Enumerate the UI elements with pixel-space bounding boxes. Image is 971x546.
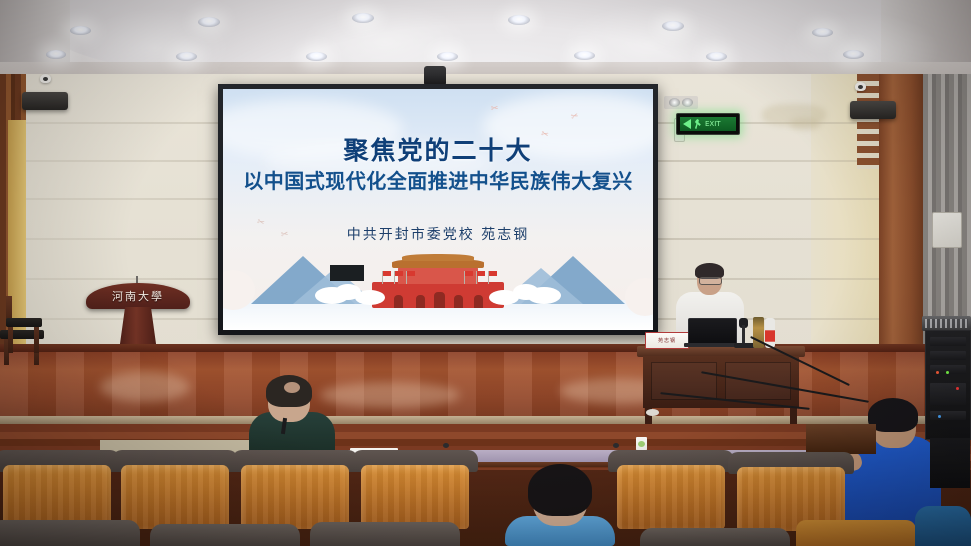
seat-wood-grain (241, 465, 349, 529)
speaker-glasses (699, 277, 722, 285)
ceiling-downlight (306, 52, 327, 61)
exit-arrow-icon (683, 119, 691, 129)
right-wood-column (879, 74, 925, 374)
seat-back (121, 465, 229, 529)
ceiling-downlight (812, 28, 833, 37)
seat-wood-grain (121, 465, 229, 529)
chair-leg (34, 327, 39, 353)
rack-led (956, 387, 959, 390)
av-equipment-rack (925, 330, 971, 440)
ceiling-downlight (843, 50, 864, 59)
chair-leg (8, 327, 13, 353)
foreground-seat-cushion (0, 520, 140, 546)
seat-back (617, 465, 725, 529)
mixer-controls[interactable] (925, 319, 968, 328)
gate-door (394, 295, 403, 308)
wall-stain (790, 118, 820, 130)
desk-grommet (443, 443, 449, 448)
lecture-hall-photo: EXIT ✂ ✂ ✂ ✂ ✂ ✂ 聚焦党的二十大 以中国式现代化全面推进中华民族… (0, 0, 971, 546)
wall-speaker-right (850, 101, 896, 119)
ceiling-downlight (662, 21, 684, 31)
microphone-stand (742, 325, 745, 345)
foreground-seat-cushion (310, 522, 460, 546)
gate-main-door (434, 292, 445, 308)
name-placard-text: 苑志钢 (658, 337, 676, 344)
laptop-base (684, 343, 740, 347)
ceiling-downlight (70, 26, 91, 35)
flag (394, 271, 395, 284)
emergency-light (664, 96, 698, 109)
floor-reflection (100, 372, 190, 402)
seat-wood-grain (617, 465, 725, 529)
ceiling-downlight (437, 52, 458, 61)
rack-led (938, 415, 941, 418)
rack-lower (930, 438, 970, 488)
security-camera-left (40, 74, 51, 83)
gate-upper-roof (402, 254, 474, 261)
ceiling-downlight (176, 52, 197, 61)
stage-side-chair (6, 318, 42, 364)
ceiling-projector (424, 66, 446, 86)
foreground-seat-cushion (150, 524, 300, 546)
projection-screen-frame: ✂ ✂ ✂ ✂ ✂ ✂ 聚焦党的二十大 以中国式现代化全面推进中华民族伟大复兴 … (218, 84, 658, 335)
slide-title: 聚焦党的二十大 (223, 131, 653, 167)
av-desk (806, 424, 876, 454)
attendee-bald-spot (284, 382, 300, 393)
gate-door (454, 295, 463, 308)
security-camera-right (855, 82, 866, 91)
ceiling-downlight (46, 50, 66, 59)
foreground-blue-object (915, 506, 971, 546)
ceiling-downlight (574, 51, 595, 60)
wall-speaker-left (22, 92, 68, 110)
rack-led (946, 371, 949, 374)
rack-unit (930, 351, 966, 360)
safety-notice-sign (932, 212, 962, 248)
name-placard: 苑志钢 (645, 332, 689, 349)
ceiling-downlight (706, 52, 727, 61)
gate-door (474, 295, 483, 308)
floor-plug (646, 409, 659, 416)
ceiling-downlight (352, 13, 374, 23)
exit-sign: EXIT (676, 113, 740, 135)
emergency-lamp (669, 98, 680, 107)
flag (406, 271, 407, 284)
chair-seat (6, 318, 42, 327)
slide-subtitle: 以中国式现代化全面推进中华民族伟大复兴 (223, 165, 653, 194)
tiananmen-gate-illustration (372, 252, 504, 308)
ceiling-downlight (198, 17, 220, 27)
exit-label: EXIT (705, 120, 721, 128)
foreground-seat-cushion (640, 528, 790, 546)
flag (464, 271, 465, 284)
desk-grommet (613, 443, 619, 448)
laptop (688, 318, 737, 346)
running-man-icon (694, 119, 702, 129)
audio-mixer[interactable] (922, 316, 971, 331)
rack-unit (930, 411, 966, 420)
foreground-seat-wood (796, 520, 916, 546)
ceiling-glow (560, 4, 740, 84)
slide-presenter-line: 中共开封市委党校 苑志钢 (223, 224, 653, 244)
floor-reflection (320, 382, 460, 408)
projection-screen: ✂ ✂ ✂ ✂ ✂ ✂ 聚焦党的二十大 以中国式现代化全面推进中华民族伟大复兴 … (223, 89, 653, 330)
seat-wood-grain (361, 465, 469, 529)
flag (382, 271, 383, 284)
slide-dark-block (330, 265, 364, 281)
bird-decoration: ✂ (490, 103, 499, 115)
venue-plaque-text: 河南大學 (112, 288, 164, 304)
ceiling-downlight (508, 15, 530, 25)
seat-back (241, 465, 349, 529)
attendee-hair (528, 464, 592, 516)
slide-cloud (489, 290, 519, 305)
exit-sign-face: EXIT (680, 117, 736, 131)
rack-unit (930, 383, 966, 405)
flag (488, 271, 489, 284)
seat-back (361, 465, 469, 529)
gate-door (416, 295, 425, 308)
slide-cloud (355, 290, 385, 305)
flag (476, 271, 477, 284)
rack-unit (930, 337, 966, 346)
emergency-lamp (682, 98, 693, 107)
rack-led (936, 371, 939, 374)
